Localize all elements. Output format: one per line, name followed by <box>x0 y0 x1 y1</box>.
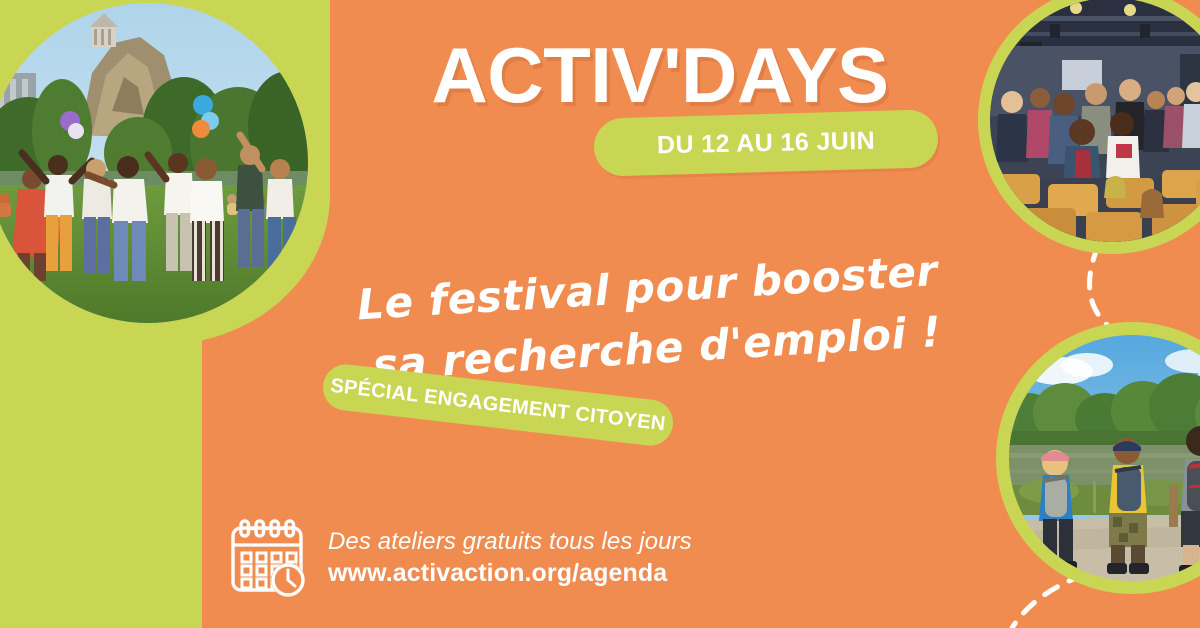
footer: Des ateliers gratuits tous les jours www… <box>228 518 692 598</box>
calendar-clock-icon <box>228 518 306 598</box>
date-badge: DU 12 AU 16 JUIN <box>593 109 938 177</box>
page-title: ACTIV'DAYS <box>380 36 940 114</box>
footer-text: Des ateliers gratuits tous les jours www… <box>328 528 692 588</box>
footer-url[interactable]: www.activaction.org/agenda <box>328 559 692 588</box>
photo-group-auditorium <box>990 0 1200 242</box>
date-badge-label: DU 12 AU 16 JUIN <box>593 110 938 175</box>
photo-circle-park <box>0 0 321 336</box>
footer-tagline: Des ateliers gratuits tous les jours <box>328 528 692 556</box>
photo-group-park <box>0 3 308 323</box>
photo-hikers-lake <box>1009 335 1200 581</box>
poster-canvas: ACTIV'DAYS DU 12 AU 16 JUIN Le festival … <box>0 0 1200 628</box>
photo-circle-hikers <box>996 322 1200 594</box>
photo-circle-auditorium <box>978 0 1200 254</box>
